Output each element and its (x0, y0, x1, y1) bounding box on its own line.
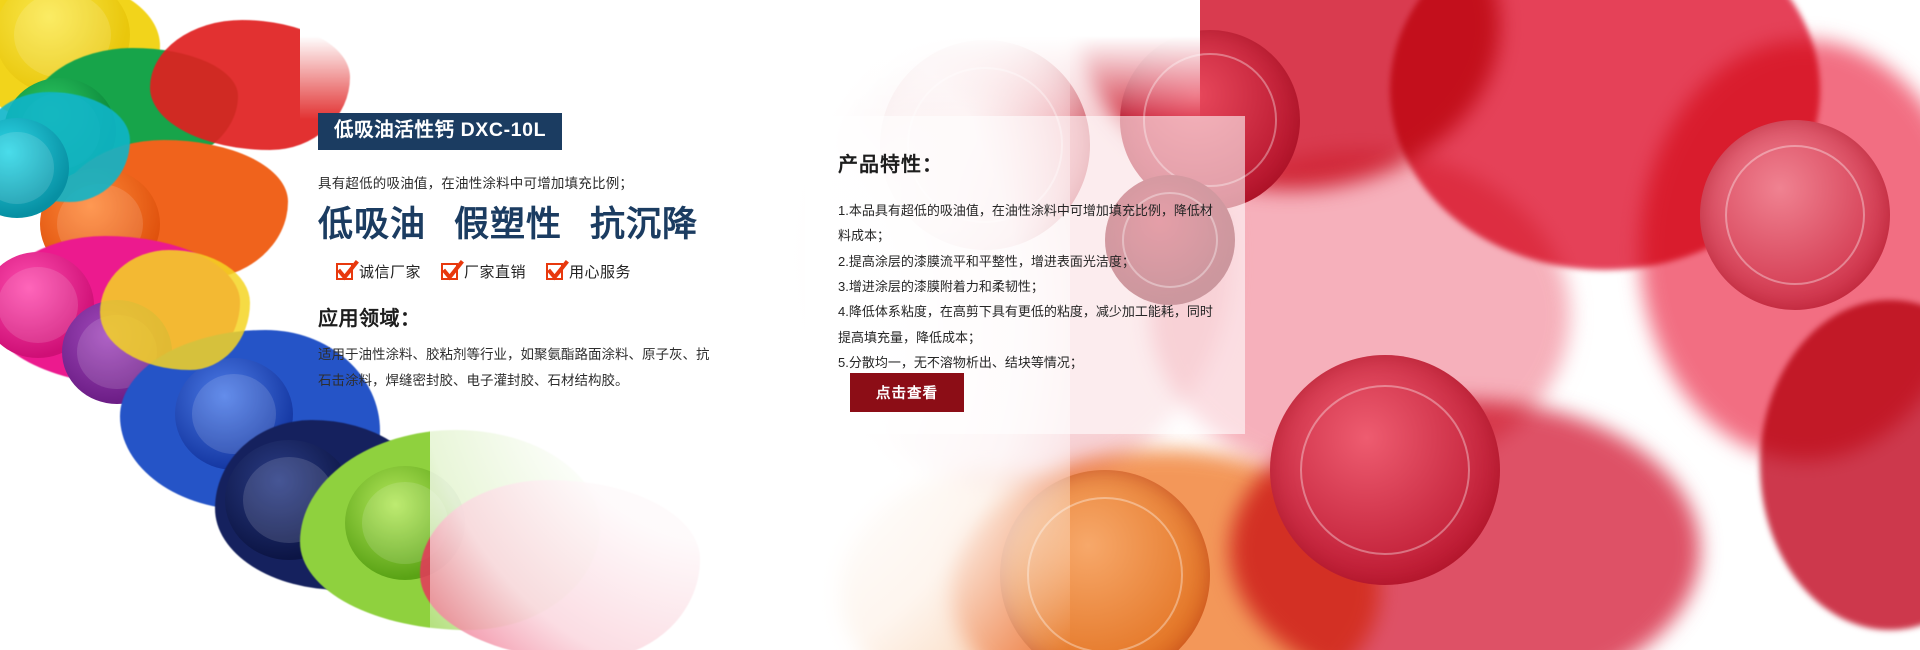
feature-item-1: 1.本品具有超低的吸油值，在油性涂料中可增加填充比例，降低材料成本； (838, 198, 1215, 249)
product-features-panel: 产品特性： 1.本品具有超低的吸油值，在油性涂料中可增加填充比例，降低材料成本；… (805, 116, 1245, 434)
paint-dish-bottom-right (1270, 355, 1500, 585)
splash-peach-bottom-left (840, 470, 1140, 650)
paint-pot-green (4, 78, 116, 184)
product-title-banner: 低吸油活性钙 DXC-10L (318, 113, 562, 150)
view-details-button[interactable]: 点击查看 (850, 373, 964, 412)
trust-badge-row: 诚信厂家 厂家直销 用心服务 (336, 261, 738, 282)
application-heading: 应用领域： (318, 302, 738, 331)
paint-pot-lime (345, 466, 465, 580)
splash-pink-right-edge (1640, 40, 1920, 460)
product-headline: 低吸油假塑性抗沉降 (318, 205, 738, 245)
top-white-fade (300, 0, 1200, 120)
headline-word-1: 低吸油 (318, 204, 426, 245)
paint-pot-blue (175, 358, 293, 470)
paint-pot-purple (62, 300, 172, 404)
splash-crimson-bottom (1230, 400, 1700, 650)
product-subtitle: 具有超低的吸油值，在油性涂料中可增加填充比例； (318, 172, 738, 192)
features-list: 1.本品具有超低的吸油值，在油性涂料中可增加填充比例，降低材料成本； 2.提高涂… (838, 198, 1215, 375)
features-panel-title: 产品特性： (838, 148, 1215, 177)
trust-badge-label-1: 诚信厂家 (359, 261, 421, 282)
trust-badge-1: 诚信厂家 (336, 261, 421, 282)
paint-smear-green (28, 48, 238, 168)
paint-pot-cyan (0, 118, 69, 218)
trust-badge-label-2: 厂家直销 (464, 261, 526, 282)
trust-badge-3: 用心服务 (546, 261, 631, 282)
paint-smear-yellow-lower (100, 250, 250, 370)
feature-item-2: 2.提高涂层的漆膜流平和平整性，增进表面光洁度； (838, 249, 1215, 274)
paint-pot-yellow (0, 0, 130, 95)
checkmark-icon (336, 263, 353, 280)
paint-smear-orange (58, 140, 288, 280)
feature-item-5: 5.分散均一，无不溶物析出、结块等情况； (838, 350, 1215, 375)
feature-item-4: 4.降低体系粘度，在高剪下具有更低的粘度，减少加工能耗，同时提高填充量，降低成本… (838, 299, 1215, 350)
splash-red-upper-right (1390, 0, 1820, 270)
feature-item-3: 3.增进涂层的漆膜附着力和柔韧性； (838, 274, 1215, 299)
paint-smear-cyan (0, 92, 130, 202)
paint-smear-pinkred (420, 480, 700, 650)
paint-smear-magenta (0, 236, 240, 386)
paint-smear-yellow (0, 0, 160, 130)
product-banner: 低吸油活性钙 DXC-10L 具有超低的吸油值，在油性涂料中可增加填充比例； 低… (0, 0, 1920, 650)
checkmark-icon (546, 263, 563, 280)
trust-badge-2: 厂家直销 (441, 261, 526, 282)
left-content-block: 低吸油活性钙 DXC-10L 具有超低的吸油值，在油性涂料中可增加填充比例； 低… (318, 113, 738, 394)
headline-word-2: 假塑性 (454, 204, 562, 245)
paint-dish-bottom-center (1000, 470, 1210, 650)
splash-deep-red-right (1760, 300, 1920, 630)
paint-smear-navy (215, 420, 425, 590)
headline-word-3: 抗沉降 (590, 204, 698, 245)
paint-pot-orange (40, 168, 160, 280)
trust-badge-label-3: 用心服务 (569, 261, 631, 282)
paint-pot-magenta (0, 252, 94, 358)
application-body-text: 适用于油性涂料、胶粘剂等行业，如聚氨酯路面涂料、原子灰、抗石击涂料，焊缝密封胶、… (318, 342, 718, 395)
checkmark-icon (441, 263, 458, 280)
splash-orange-bottom (950, 450, 1380, 650)
paint-dish-far-right (1700, 120, 1890, 310)
paint-smear-lime (300, 430, 600, 630)
paint-pot-navy (225, 440, 353, 560)
